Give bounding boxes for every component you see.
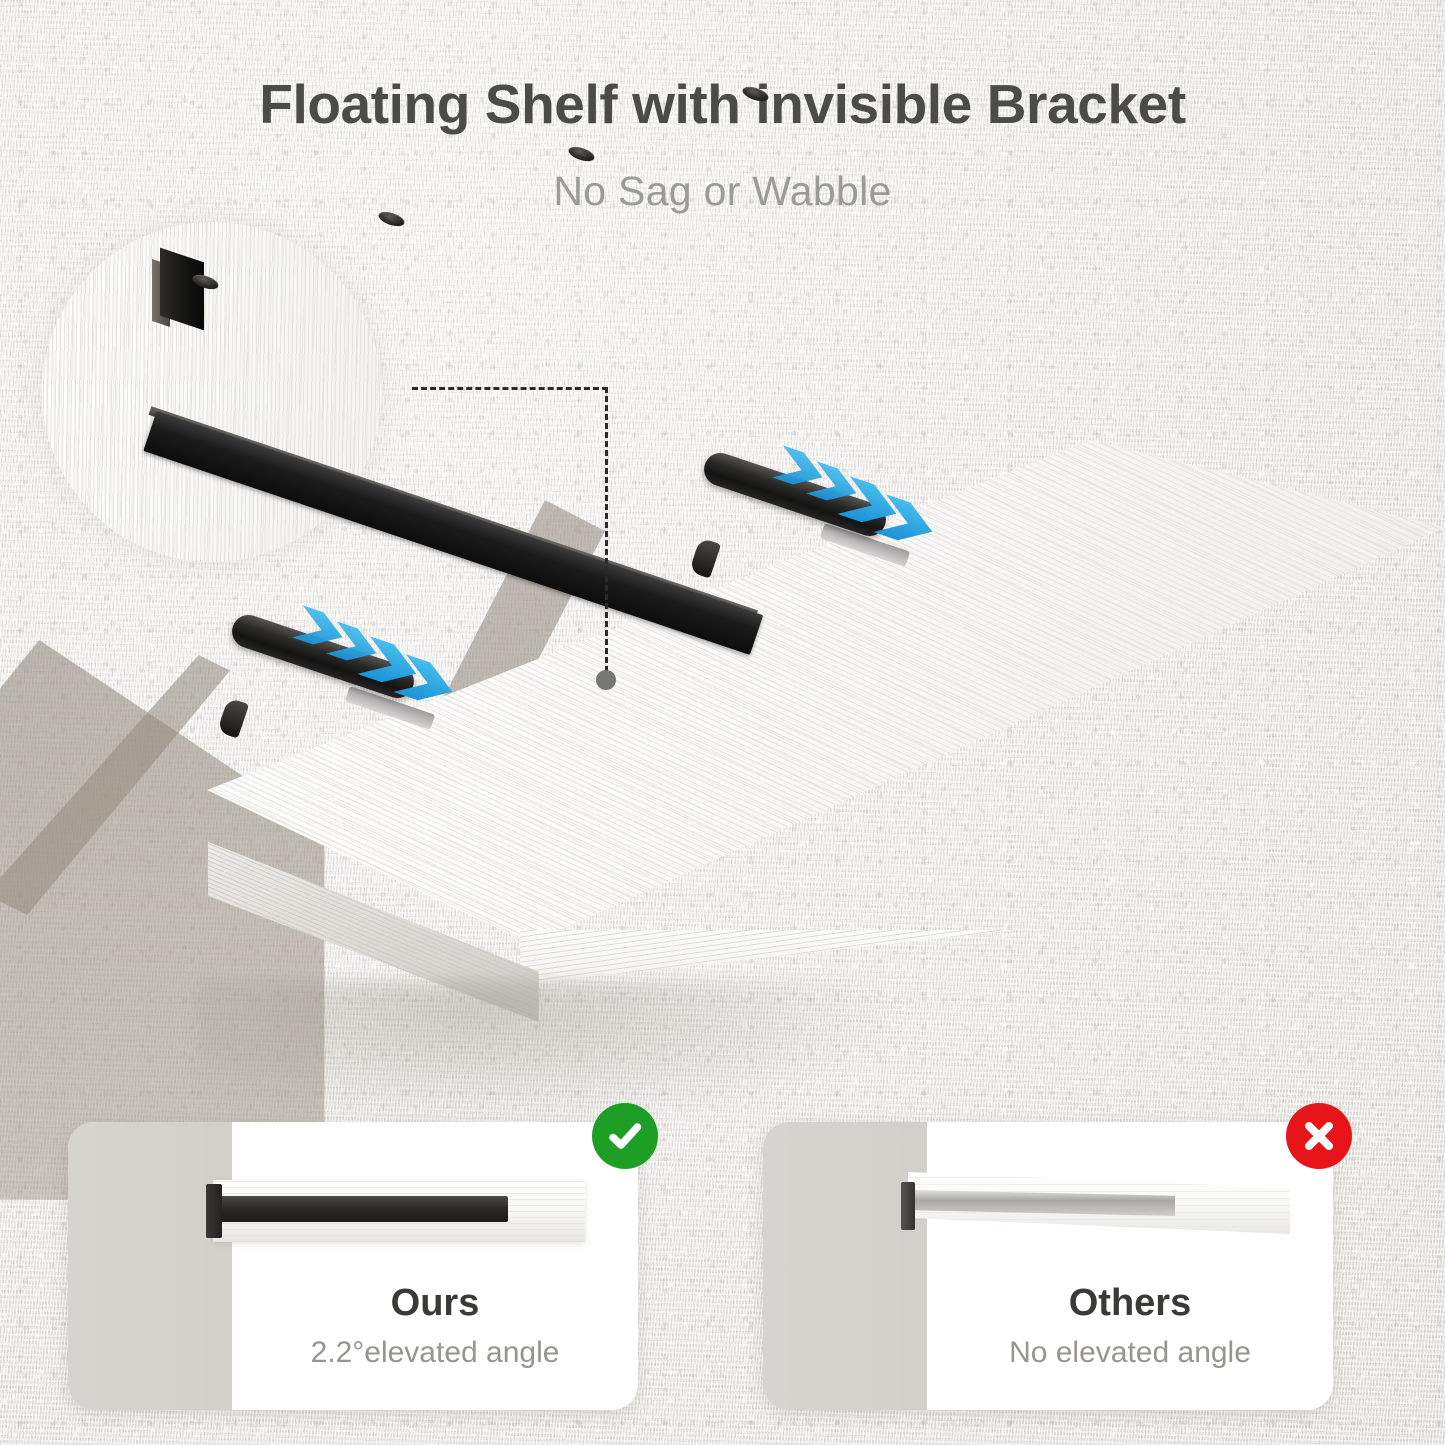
page-title: Floating Shelf with invisible Bracket — [0, 72, 1445, 136]
card-wall-block — [763, 1122, 927, 1410]
bracket-bar — [143, 411, 763, 655]
card-wall-block — [68, 1122, 232, 1410]
comparison-card-ours: Ours 2.2°elevated angle — [68, 1122, 638, 1410]
card-sublabel: No elevated angle — [927, 1336, 1333, 1370]
bracket-wall-flange — [160, 248, 204, 331]
product-infographic: Floating Shelf with invisible Bracket No… — [0, 0, 1445, 1445]
card-label: Others — [927, 1282, 1333, 1325]
callout-endpoint-dot — [596, 670, 616, 690]
card-sublabel: 2.2°elevated angle — [232, 1336, 638, 1370]
ours-wall-plate — [206, 1184, 222, 1238]
page-subtitle: No Sag or Wabble — [0, 168, 1445, 215]
cross-badge-icon — [1286, 1103, 1352, 1169]
invisible-bracket — [0, 380, 900, 760]
comparison-section: Ours 2.2°elevated angle Others No elevat… — [0, 1122, 1445, 1422]
ours-bracket-rod — [218, 1196, 508, 1222]
shelf-underside-shadow — [195, 980, 895, 1130]
others-wall-plate — [901, 1182, 915, 1230]
comparison-card-others: Others No elevated angle — [763, 1122, 1333, 1410]
checkmark-badge-icon — [592, 1103, 658, 1169]
card-label: Ours — [232, 1282, 638, 1325]
callout-line-horizontal — [412, 387, 608, 390]
callout-line-vertical — [605, 387, 608, 672]
